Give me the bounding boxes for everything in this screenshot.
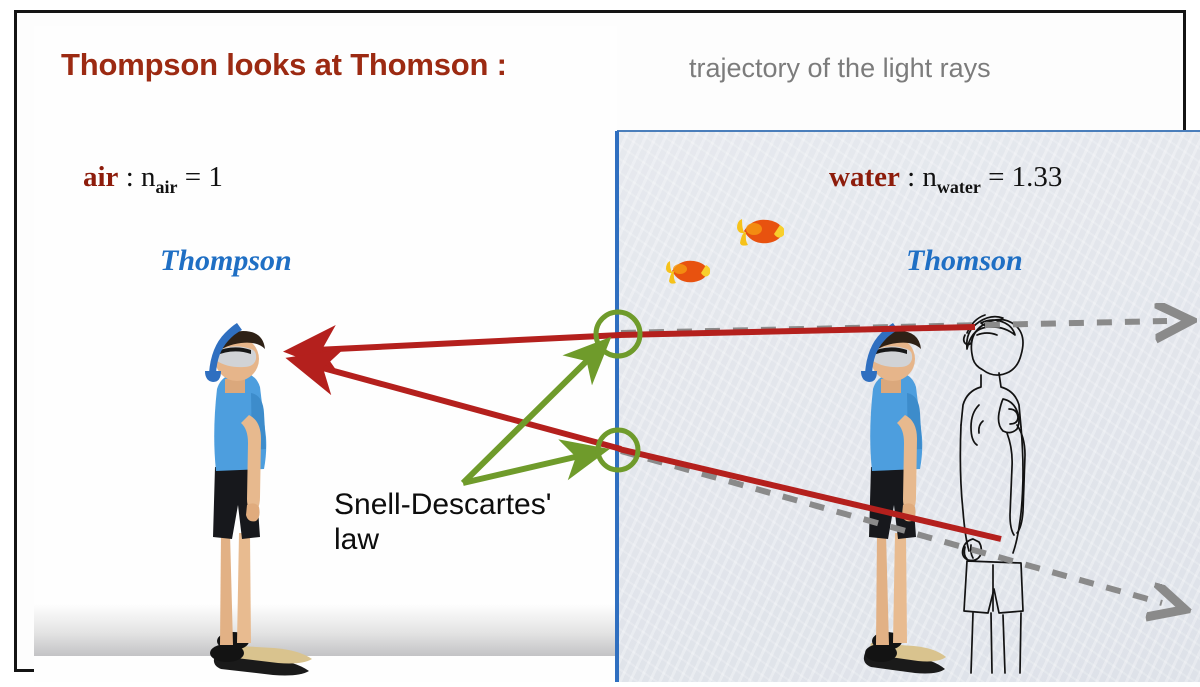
water-index-label: water : nwater = 1.33 <box>829 161 1062 198</box>
air-index-subscript: air <box>156 177 178 197</box>
virtual-image-outline-figure <box>937 313 1047 683</box>
water-index-value: 1.33 <box>1012 161 1063 193</box>
snell-law-line-1: Snell-Descartes' <box>334 487 551 522</box>
slide-frame: Thompson looks at Thomson : trajectory o… <box>14 10 1186 672</box>
fish-icon-left <box>662 253 710 287</box>
snell-descartes-law-annotation: Snell-Descartes' law <box>334 487 551 558</box>
water-index-subscript: water <box>937 177 981 197</box>
water-surface-line <box>617 130 1200 132</box>
fish-icon-right <box>732 213 784 249</box>
water-index-symbol: n <box>922 161 937 193</box>
water-equals: = <box>981 161 1012 193</box>
air-region <box>34 26 617 682</box>
slide-subtitle: trajectory of the light rays <box>689 53 991 84</box>
air-equals: = <box>177 161 208 193</box>
snell-law-line-2: law <box>334 522 551 557</box>
air-index-symbol: n <box>141 161 156 193</box>
diver-thompson-figure <box>193 319 313 679</box>
water-separator: : <box>900 161 923 193</box>
air-index-value: 1 <box>208 161 223 193</box>
observer-name-label: Thompson <box>160 244 292 278</box>
ground-shadow-band <box>34 604 617 656</box>
water-medium-name: water <box>829 161 900 193</box>
slide-title: Thompson looks at Thomson : <box>61 47 507 83</box>
observed-name-label: Thomson <box>906 244 1023 278</box>
slide-canvas: Thompson looks at Thomson : trajectory o… <box>0 0 1200 687</box>
air-water-interface-line <box>615 131 619 682</box>
air-separator: : <box>118 161 141 193</box>
air-index-label: air : nair = 1 <box>83 161 223 198</box>
air-medium-name: air <box>83 161 118 193</box>
